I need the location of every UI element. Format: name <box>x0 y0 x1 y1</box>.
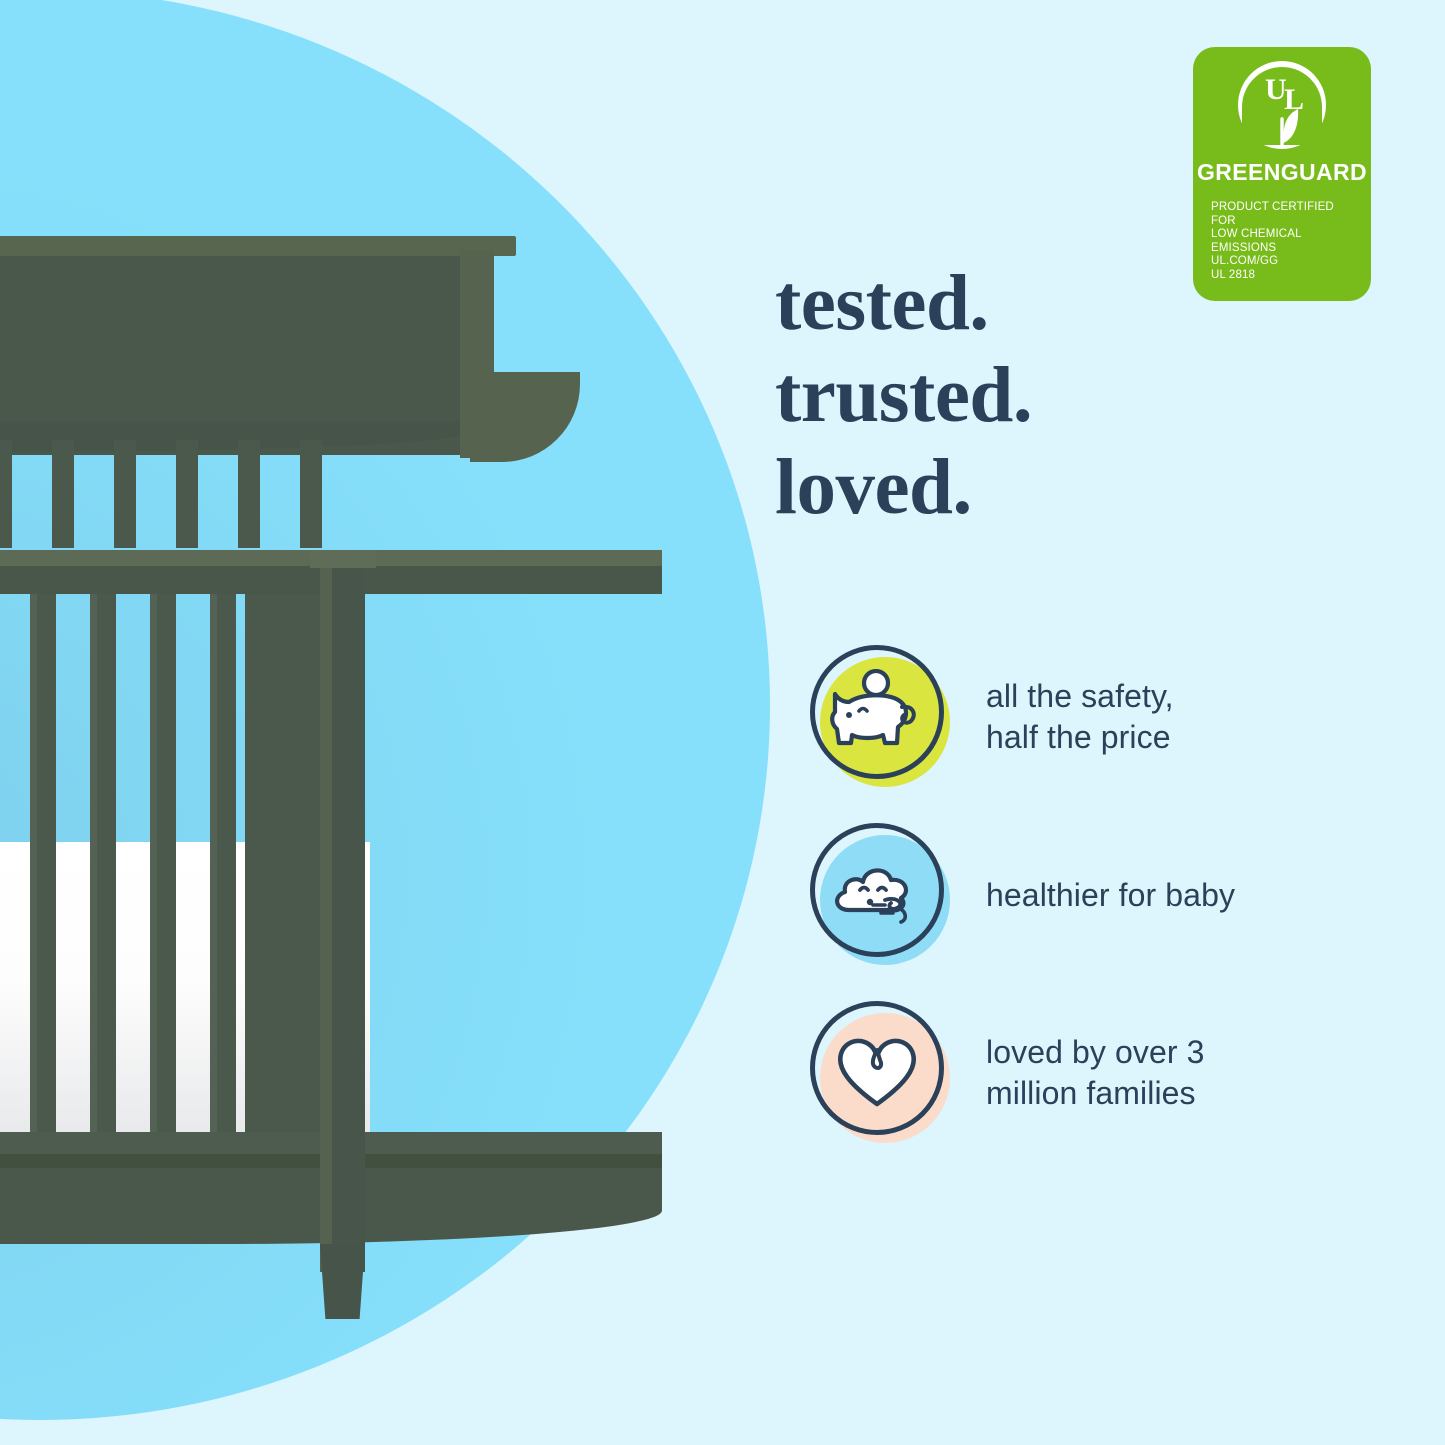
badge-title: GREENGUARD <box>1197 159 1367 186</box>
feature-label-line: half the price <box>986 717 1174 758</box>
feature-label-line: all the safety, <box>986 676 1174 717</box>
feature-icon-wrapper <box>800 993 960 1153</box>
headline-line-2: trusted. <box>775 350 1375 442</box>
crib-front-slat <box>90 594 116 1139</box>
crib-front-slat-cluster <box>245 594 325 1139</box>
svg-text:L: L <box>1284 83 1304 116</box>
crib-rear-slat <box>114 440 136 548</box>
feature-label-line: loved by over 3 <box>986 1032 1205 1073</box>
badge-line: PRODUCT CERTIFIED FOR <box>1211 201 1353 228</box>
feature-row-savings: all the safety, half the price <box>800 628 1400 806</box>
heart-icon <box>810 1001 944 1135</box>
feature-icon-wrapper <box>800 815 960 975</box>
crib-leg <box>320 1244 365 1319</box>
crib-headboard-top-rail <box>0 236 516 256</box>
crib-corner-post-cap <box>310 550 376 568</box>
crib-rear-slat <box>52 440 74 548</box>
crib-rear-slat <box>0 440 12 548</box>
smiling-cloud-icon <box>810 823 944 957</box>
crib-front-slat <box>210 594 236 1139</box>
badge-line: LOW CHEMICAL EMISSIONS <box>1211 228 1353 255</box>
feature-list: all the safety, half the price <box>800 628 1400 1162</box>
headline-line-3: loved. <box>775 442 1375 534</box>
feature-row-health: healthier for baby <box>800 806 1400 984</box>
ul-leaf-icon: U L <box>1236 59 1328 156</box>
feature-row-loved: loved by over 3 million families <box>800 984 1400 1162</box>
crib-rear-slat <box>238 440 260 548</box>
crib-corner-post-highlight <box>320 562 332 1272</box>
feature-label-line: million families <box>986 1073 1205 1114</box>
crib-rear-slat <box>176 440 198 548</box>
feature-label-line: healthier for baby <box>986 875 1235 916</box>
page-title: tested. trusted. loved. <box>775 258 1375 534</box>
crib-headboard-curve <box>470 372 580 462</box>
feature-label: all the safety, half the price <box>986 676 1174 758</box>
crib-rear-slat <box>300 440 322 548</box>
crib-front-slat <box>30 594 56 1139</box>
feature-label: loved by over 3 million families <box>986 1032 1205 1114</box>
piggy-bank-icon <box>810 645 944 779</box>
crib-front-slat <box>150 594 176 1139</box>
crib-product-image <box>0 232 670 1302</box>
marketing-image: U L GREENGUARD PRODUCT CERTIFIED FOR LOW… <box>0 0 1445 1445</box>
headline-line-1: tested. <box>775 258 1375 350</box>
feature-icon-wrapper <box>800 637 960 797</box>
feature-label: healthier for baby <box>986 875 1235 916</box>
